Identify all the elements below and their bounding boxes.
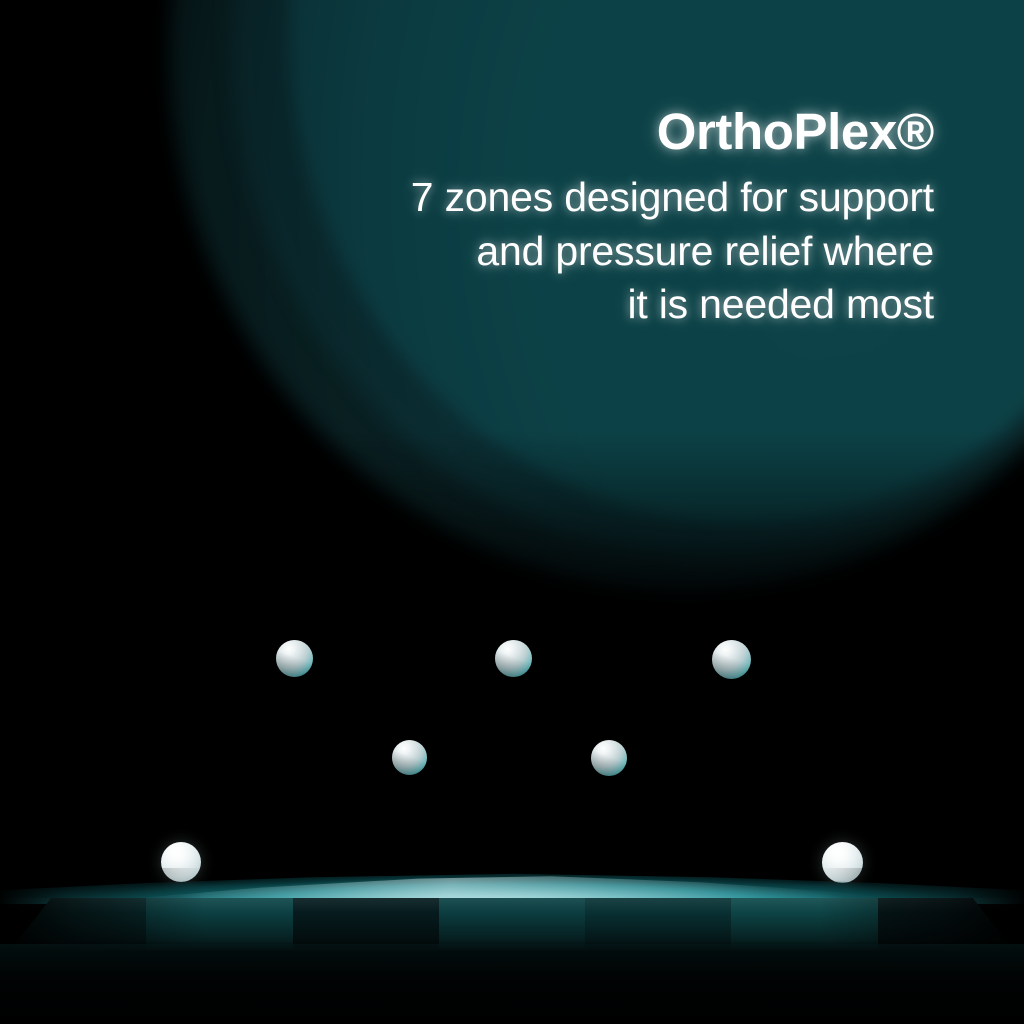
mattress-zone-6 <box>731 898 877 950</box>
headline-block: OrthoPlex® 7 zones designed for support … <box>274 104 934 332</box>
sphere-1 <box>276 640 313 677</box>
sphere-4 <box>392 740 427 775</box>
mattress-zone-2 <box>146 898 292 950</box>
mattress-zone-1 <box>0 898 146 950</box>
tagline-line-2: and pressure relief where <box>274 225 934 279</box>
tagline-line-1: 7 zones designed for support <box>274 171 934 225</box>
mattress-illustration <box>0 868 1024 978</box>
tagline: 7 zones designed for support and pressur… <box>274 171 934 332</box>
tagline-line-3: it is needed most <box>274 278 934 332</box>
mattress-zone-5 <box>585 898 731 950</box>
sphere-5 <box>591 740 627 776</box>
sphere-3 <box>712 640 751 679</box>
sphere-2 <box>495 640 532 677</box>
mattress-zone-strip <box>0 898 1024 950</box>
mattress-zone-7 <box>878 898 1024 950</box>
page-title: OrthoPlex® <box>274 104 934 159</box>
mattress-zone-4 <box>439 898 585 950</box>
mattress-zone-3 <box>293 898 439 950</box>
promo-canvas: OrthoPlex® 7 zones designed for support … <box>0 0 1024 1024</box>
